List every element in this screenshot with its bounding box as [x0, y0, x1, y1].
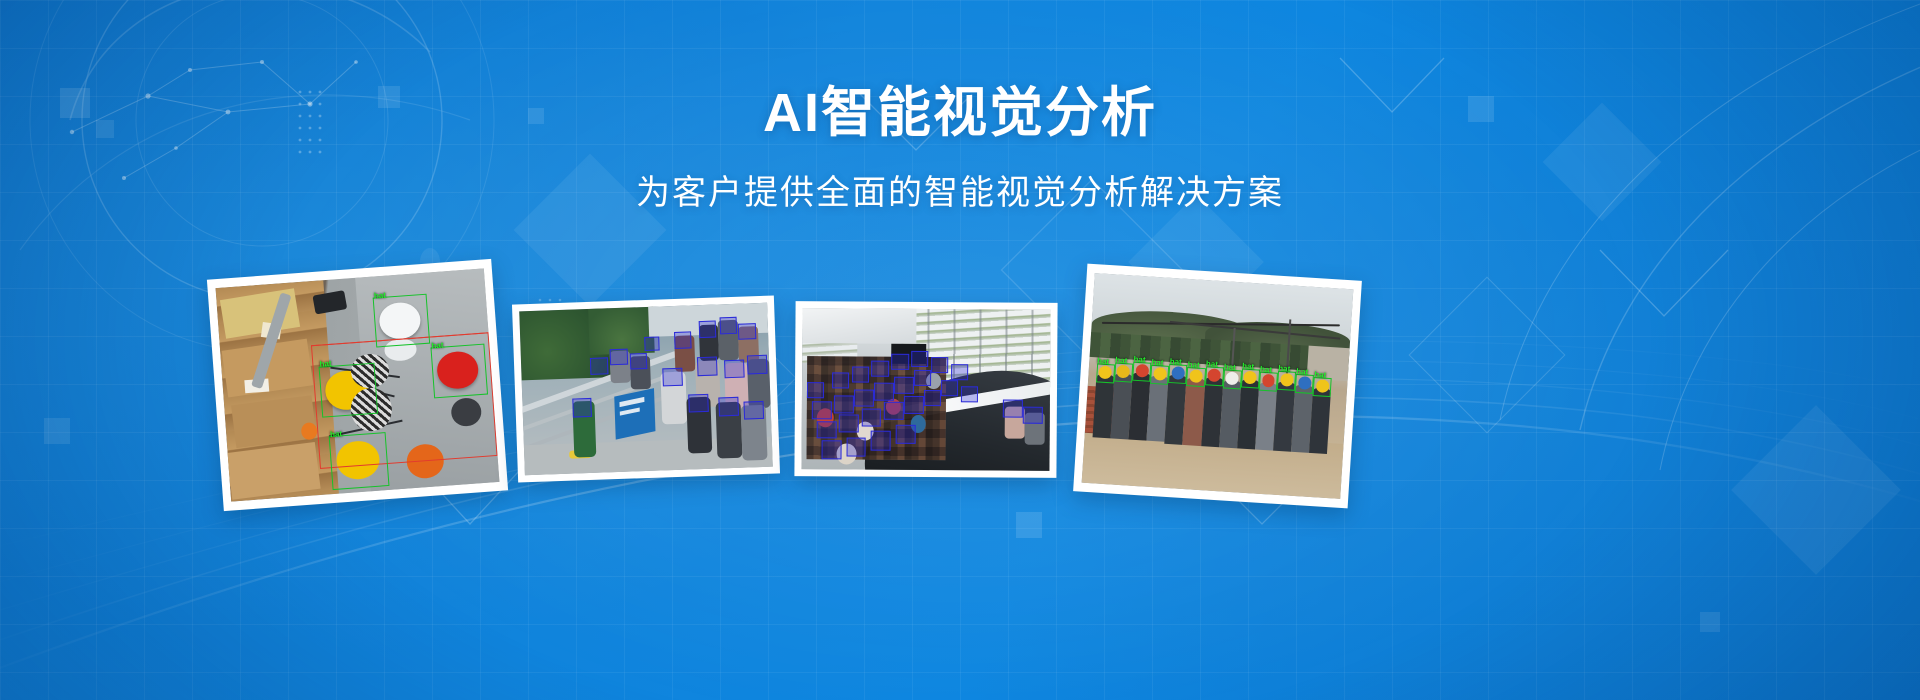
detection-box	[832, 373, 849, 389]
detection-box	[1003, 400, 1023, 418]
gallery-image-2	[519, 303, 773, 476]
detection-box	[891, 354, 908, 370]
detection-label: hat	[1296, 368, 1308, 377]
detection-label: hat	[1169, 358, 1181, 367]
detection-label: hat	[1133, 355, 1145, 364]
detection-box	[630, 353, 648, 370]
detection-box	[961, 387, 978, 403]
warehouse-topdown-photo: hat hat hat hat	[216, 268, 500, 501]
gallery-image-4: hat hat hat hat hat hat hat hat	[1082, 273, 1354, 499]
detection-box	[941, 380, 958, 396]
detection-box	[834, 395, 854, 413]
detection-box	[861, 408, 881, 426]
detection-label: hat	[1097, 357, 1109, 366]
detection-label: hat	[1278, 365, 1290, 374]
sample-gallery: hat hat hat hat	[0, 255, 1920, 525]
detection-label: hat	[1224, 363, 1236, 372]
detection-box	[852, 366, 869, 382]
page-title: AI智能视觉分析	[0, 84, 1920, 143]
hero-text-block: AI智能视觉分析 为客户提供全面的智能视觉分析解决方案	[0, 84, 1920, 214]
detection-box	[904, 396, 924, 414]
detection-box	[884, 402, 904, 420]
detection-label: hat	[1151, 359, 1163, 368]
detection-box	[874, 383, 894, 401]
outdoor-group-photo: hat hat hat hat hat hat hat hat	[1082, 273, 1354, 499]
detection-label: hat	[1115, 356, 1127, 365]
detection-label: hat	[1242, 362, 1254, 371]
detection-box	[872, 360, 889, 376]
detection-box	[951, 364, 968, 380]
detection-box	[1277, 371, 1296, 391]
gallery-item-4[interactable]: hat hat hat hat hat hat hat hat	[1073, 264, 1362, 509]
escalator-crowd-photo	[801, 308, 1050, 471]
detection-box	[590, 358, 608, 375]
detection-label: hat	[330, 430, 343, 439]
detection-box	[1223, 370, 1242, 390]
detection-box	[846, 437, 866, 456]
detection-box	[807, 382, 824, 398]
detection-box	[1150, 365, 1169, 385]
detection-box	[817, 421, 837, 439]
detection-box	[674, 332, 692, 349]
detection-box	[747, 355, 767, 374]
detection-box	[821, 440, 841, 459]
detection-label: hat	[1260, 366, 1272, 375]
gallery-image-1: hat hat hat hat	[216, 268, 500, 501]
detection-box	[914, 370, 931, 386]
gallery-image-3	[801, 308, 1050, 471]
detection-box	[896, 425, 916, 444]
detection-box	[1022, 406, 1042, 424]
detection-box	[931, 357, 948, 373]
detection-box	[610, 349, 628, 366]
detection-box	[698, 321, 716, 338]
detection-box	[923, 389, 940, 405]
detection-box	[697, 357, 717, 376]
page-subtitle: 为客户提供全面的智能视觉分析解决方案	[0, 173, 1920, 214]
detection-box	[1114, 363, 1133, 383]
detection-box	[743, 401, 763, 420]
hero-banner: AI智能视觉分析 为客户提供全面的智能视觉分析解决方案	[0, 0, 1920, 700]
detection-box	[839, 415, 859, 433]
detection-box	[724, 359, 744, 378]
gallery-item-3[interactable]	[794, 301, 1057, 478]
detection-box	[1168, 364, 1187, 384]
detection-label: hat	[1187, 361, 1199, 370]
gallery-item-2[interactable]	[512, 295, 780, 482]
detection-box	[1132, 362, 1151, 382]
detection-box	[1295, 374, 1314, 394]
detection-box	[572, 397, 593, 417]
pedestrian-bridge-photo	[519, 303, 773, 476]
detection-label: hat	[1314, 371, 1326, 380]
detection-box	[1096, 364, 1115, 384]
detection-box	[329, 432, 389, 489]
detection-box	[738, 323, 756, 340]
detection-box	[719, 317, 737, 334]
detection-box	[430, 344, 487, 399]
detection-box	[318, 362, 378, 417]
detection-label: hat	[374, 292, 387, 301]
detection-box	[718, 397, 738, 416]
detection-box	[854, 389, 874, 407]
detection-box	[812, 402, 832, 420]
detection-box	[1241, 369, 1260, 389]
detection-box	[911, 351, 928, 367]
detection-box	[1205, 366, 1224, 386]
detection-label: hat	[319, 360, 332, 369]
detection-box	[894, 376, 914, 394]
detection-box	[644, 336, 659, 351]
detection-box	[1313, 377, 1332, 397]
detection-box	[1259, 372, 1278, 392]
detection-box	[373, 294, 430, 347]
detection-label: hat	[1206, 360, 1218, 369]
detection-box	[688, 393, 708, 412]
gallery-item-1[interactable]: hat hat hat hat	[207, 259, 508, 511]
detection-box	[663, 368, 683, 387]
detection-box	[1186, 367, 1205, 387]
detection-box	[871, 431, 891, 450]
detection-label: hat	[431, 341, 444, 350]
